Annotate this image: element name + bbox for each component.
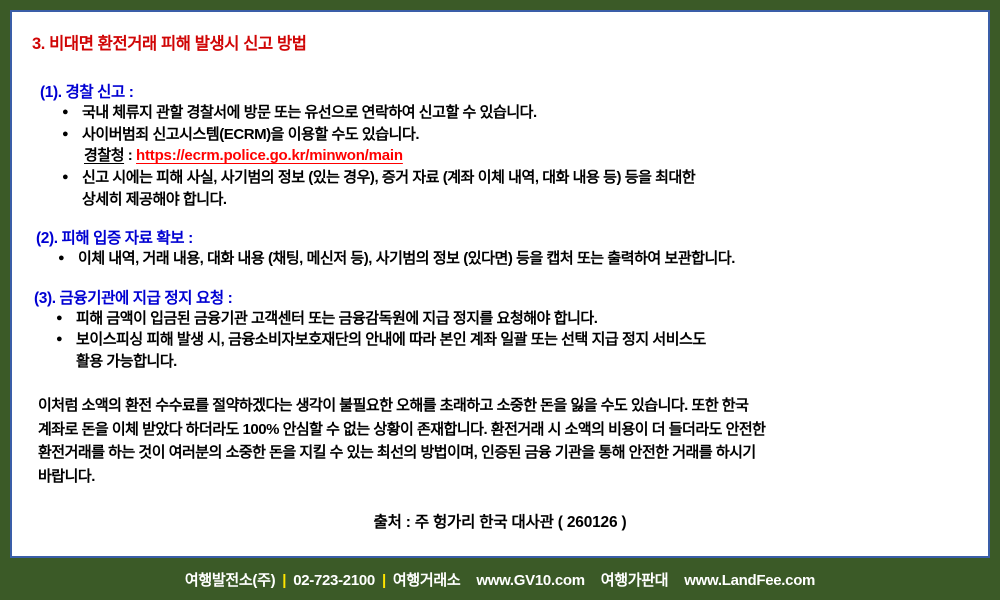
closing-line-3: 환전거래를 하는 것이 여러분의 소중한 돈을 지킬 수 있는 최선의 방법이며… xyxy=(38,441,988,465)
footer-brand-1: 여행거래소 xyxy=(393,569,461,590)
list-item: 국내 체류지 관할 경찰서에 방문 또는 유선으로 연락하여 신고할 수 있습니… xyxy=(60,102,974,124)
list-item-text-cont: 상세히 제공해야 합니다. xyxy=(82,189,974,211)
footer-bar: 여행발전소(주) | 02-723-2100 | 여행거래소 www.GV10.… xyxy=(0,558,1000,600)
police-separator: : xyxy=(124,147,136,164)
footer-separator-1: | xyxy=(282,572,286,589)
closing-paragraph: 이처럼 소액의 환전 수수료를 절약하겠다는 생각이 불필요한 오해를 초래하고… xyxy=(38,394,988,488)
footer-brand-2: 여행가판대 xyxy=(601,569,669,590)
list-item-text: 신고 시에는 피해 사실, 사기범의 정보 (있는 경우), 증거 자료 (계좌… xyxy=(82,167,974,189)
footer-separator-2: | xyxy=(382,572,386,589)
closing-line-1: 이처럼 소액의 환전 수수료를 절약하겠다는 생각이 불필요한 오해를 초래하고… xyxy=(38,394,988,418)
list-item: 사이버범죄 신고시스템(ECRM)을 이용할 수도 있습니다. xyxy=(60,124,974,146)
closing-line-2: 계좌로 돈을 이체 받았다 하더라도 100% 안심할 수 없는 상황이 존재합… xyxy=(38,418,988,442)
page-title: 3. 비대면 환전거래 피해 발생시 신고 방법 xyxy=(32,30,974,54)
police-contact-row: 경찰청 : https://ecrm.police.go.kr/minwon/m… xyxy=(62,145,974,167)
footer-content: 여행발전소(주) | 02-723-2100 | 여행거래소 www.GV10.… xyxy=(185,569,815,590)
list-item-text: 국내 체류지 관할 경찰서에 방문 또는 유선으로 연락하여 신고할 수 있습니… xyxy=(82,102,974,124)
section-heading-3: (3). 금융기관에 지급 정지 요청 : xyxy=(34,286,974,308)
section-heading-1: (1). 경찰 신고 : xyxy=(40,80,974,102)
spacer xyxy=(26,270,974,286)
source-credit: 출처 : 주 헝가리 한국 대사관 ( 260126 ) xyxy=(26,510,974,532)
police-label: 경찰청 xyxy=(84,147,124,164)
footer-site-link-1[interactable]: www.GV10.com xyxy=(476,572,584,589)
list-item: 피해 금액이 입금된 금융기관 고객센터 또는 금융감독원에 지급 정지를 요청… xyxy=(54,308,974,330)
police-report-link[interactable]: https://ecrm.police.go.kr/minwon/main xyxy=(136,147,403,164)
list-item-text: 피해 금액이 입금된 금융기관 고객센터 또는 금융감독원에 지급 정지를 요청… xyxy=(76,308,974,330)
footer-site-link-2[interactable]: www.LandFee.com xyxy=(684,572,815,589)
section-heading-2: (2). 피해 입증 자료 확보 : xyxy=(36,226,974,248)
list-item-text: 보이스피싱 피해 발생 시, 금융소비자보호재단의 안내에 따라 본인 계좌 일… xyxy=(76,329,974,351)
list-item-text: 사이버범죄 신고시스템(ECRM)을 이용할 수도 있습니다. xyxy=(82,124,974,146)
poster-frame: 3. 비대면 환전거래 피해 발생시 신고 방법 (1). 경찰 신고 : 국내… xyxy=(0,0,1000,600)
list-item-text: 이체 내역, 거래 내용, 대화 내용 (채팅, 메신저 등), 사기범의 정보… xyxy=(78,248,974,270)
content-sheet: 3. 비대면 환전거래 피해 발생시 신고 방법 (1). 경찰 신고 : 국내… xyxy=(10,10,990,558)
list-item: 신고 시에는 피해 사실, 사기범의 정보 (있는 경우), 증거 자료 (계좌… xyxy=(60,167,974,210)
list-item: 이체 내역, 거래 내용, 대화 내용 (채팅, 메신저 등), 사기범의 정보… xyxy=(56,248,974,270)
spacer xyxy=(26,210,974,226)
footer-phone-number[interactable]: 02-723-2100 xyxy=(293,572,375,589)
footer-company-name: 여행발전소(주) xyxy=(185,569,275,590)
closing-line-4: 바랍니다. xyxy=(38,465,988,489)
list-item-text-cont: 활용 가능합니다. xyxy=(76,351,974,373)
list-item: 보이스피싱 피해 발생 시, 금융소비자보호재단의 안내에 따라 본인 계좌 일… xyxy=(54,329,974,372)
